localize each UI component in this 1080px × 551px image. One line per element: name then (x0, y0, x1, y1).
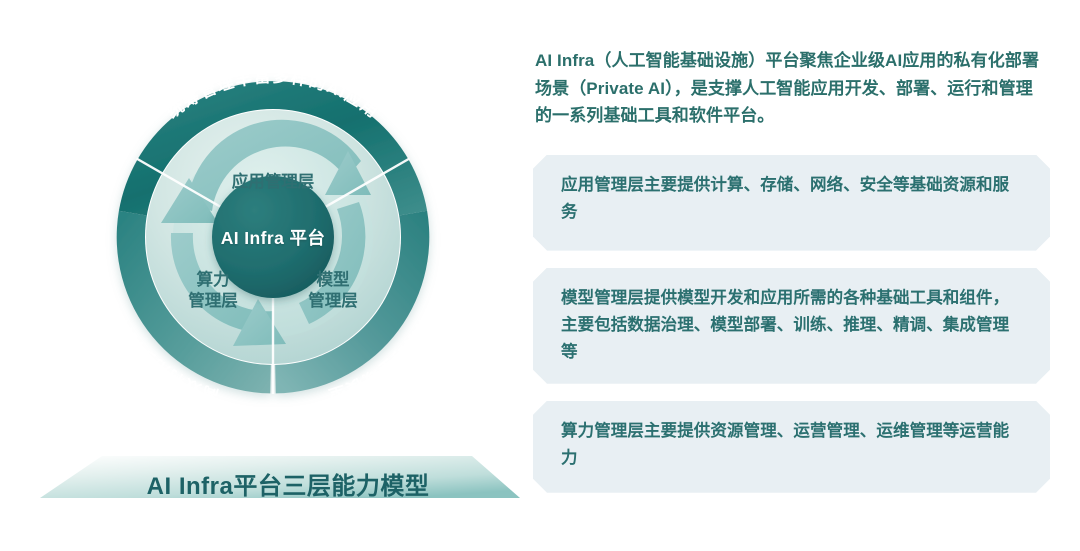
hub-circle (212, 176, 334, 298)
diagram-banner-svg (40, 452, 520, 514)
model-layer-card-text: 模型管理层提供模型开发和应用所需的各种基础工具和组件，主要包括数据治理、模型部署… (561, 289, 1009, 362)
capability-wheel-svg: 统筹管理丰富多样的AI应用 快速构建贴合场景的垂域模型 高效利用多元异构的算力资… (63, 27, 483, 447)
application-layer-card: 应用管理层主要提供计算、存储、网络、安全等基础资源和服务 (533, 155, 1050, 251)
banner-shape (40, 456, 520, 498)
application-layer-card-text: 应用管理层主要提供计算、存储、网络、安全等基础资源和服务 (561, 176, 1009, 221)
intro-paragraph: AI Infra（人工智能基础设施）平台聚焦企业级AI应用的私有化部署场景（Pr… (535, 47, 1047, 130)
model-layer-card: 模型管理层提供模型开发和应用所需的各种基础工具和组件，主要包括数据治理、模型部署… (533, 268, 1050, 384)
compute-layer-card: 算力管理层主要提供资源管理、运营管理、运维管理等运营能力 (533, 401, 1050, 493)
diagram-banner: AI Infra平台三层能力模型 (40, 452, 520, 514)
diagram-panel: 统筹管理丰富多样的AI应用 快速构建贴合场景的垂域模型 高效利用多元异构的算力资… (0, 0, 512, 551)
info-panel: AI Infra（人工智能基础设施）平台聚焦企业级AI应用的私有化部署场景（Pr… (533, 0, 1080, 551)
capability-wheel: 统筹管理丰富多样的AI应用 快速构建贴合场景的垂域模型 高效利用多元异构的算力资… (63, 27, 483, 447)
compute-layer-card-text: 算力管理层主要提供资源管理、运营管理、运维管理等运营能力 (561, 422, 1009, 467)
